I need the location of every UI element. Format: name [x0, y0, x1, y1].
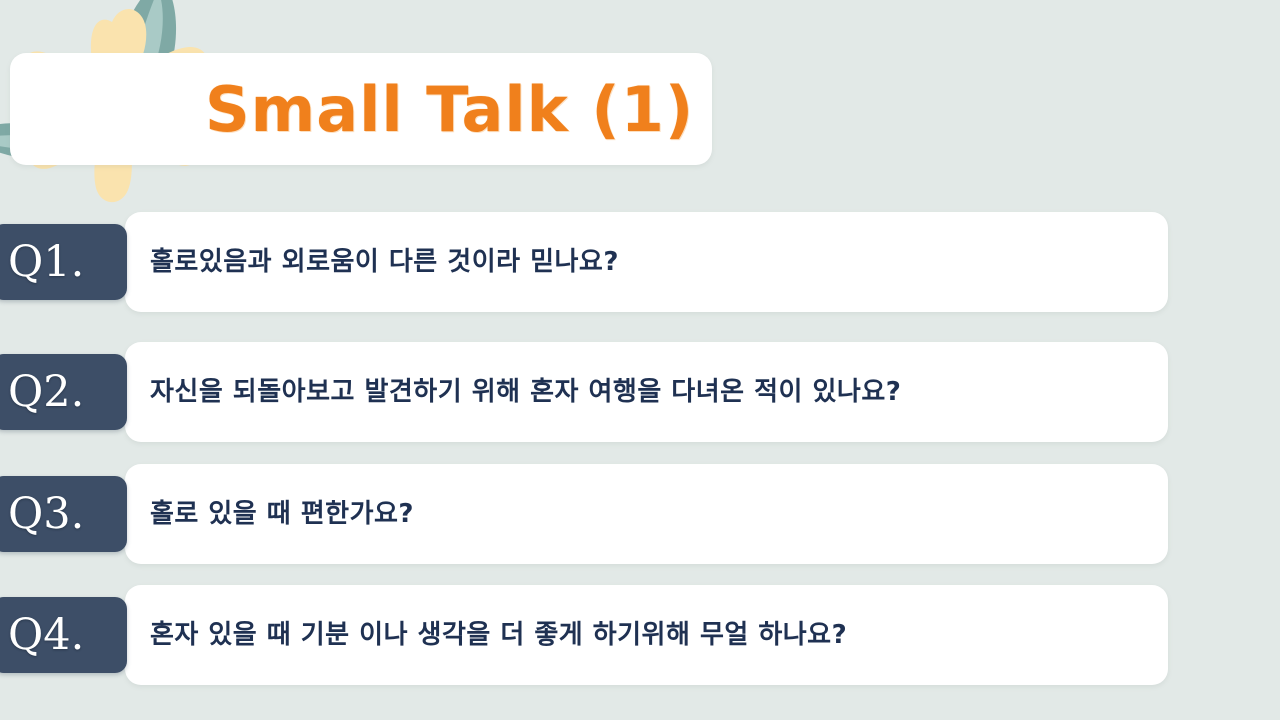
question-badge-label: Q4.	[0, 597, 127, 673]
question-row[interactable]: Q4. 혼자 있을 때 기분 이나 생각을 더 좋게 하기위해 무얼 하나요?	[0, 585, 1280, 685]
question-badge: Q2.	[0, 354, 127, 430]
question-badge-label: Q2.	[0, 354, 127, 430]
question-row[interactable]: Q2. 자신을 되돌아보고 발견하기 위해 혼자 여행을 다녀온 적이 있나요?	[0, 342, 1280, 442]
question-text: 홀로있음과 외로움이 다른 것이라 믿나요?	[150, 212, 619, 312]
question-badge-label: Q1.	[0, 224, 127, 300]
question-text: 자신을 되돌아보고 발견하기 위해 혼자 여행을 다녀온 적이 있나요?	[150, 342, 901, 442]
question-badge-label: Q3.	[0, 476, 127, 552]
question-text: 홀로 있을 때 편한가요?	[150, 464, 414, 564]
slide-canvas: Small Talk (1) Q1. 홀로있음과 외로움이 다른 것이라 믿나요…	[0, 0, 1280, 720]
question-badge: Q1.	[0, 224, 127, 300]
question-row[interactable]: Q1. 홀로있음과 외로움이 다른 것이라 믿나요?	[0, 212, 1280, 312]
question-text: 혼자 있을 때 기분 이나 생각을 더 좋게 하기위해 무얼 하나요?	[150, 585, 847, 685]
question-badge: Q4.	[0, 597, 127, 673]
question-badge: Q3.	[0, 476, 127, 552]
page-title: Small Talk (1)	[205, 62, 725, 158]
question-row[interactable]: Q3. 홀로 있을 때 편한가요?	[0, 464, 1280, 564]
